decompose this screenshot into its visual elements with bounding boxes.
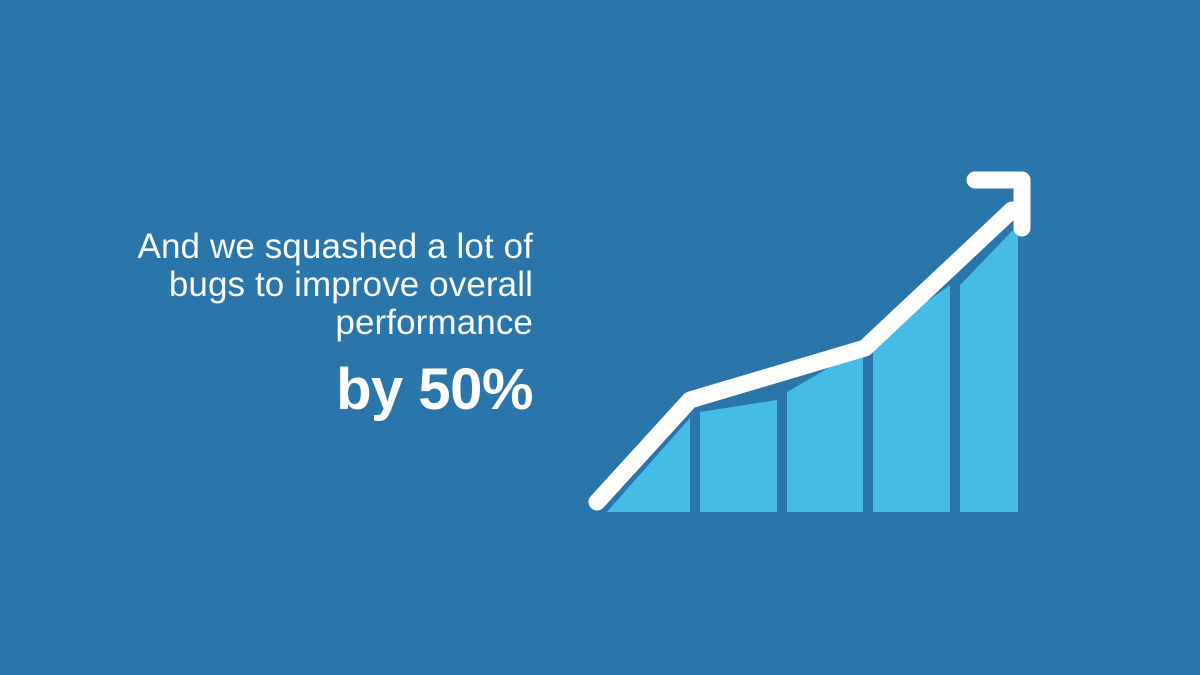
emphasis-metric: by 50% bbox=[120, 360, 533, 420]
growth-chart bbox=[560, 140, 1080, 560]
page-title: And we squashed a lot of bugs to improve… bbox=[120, 228, 533, 342]
bar-5 bbox=[960, 225, 1018, 512]
slide-canvas: And we squashed a lot of bugs to improve… bbox=[0, 0, 1200, 675]
growth-chart-svg bbox=[560, 140, 1080, 560]
bar-2 bbox=[700, 400, 777, 512]
text-block: And we squashed a lot of bugs to improve… bbox=[120, 228, 533, 420]
